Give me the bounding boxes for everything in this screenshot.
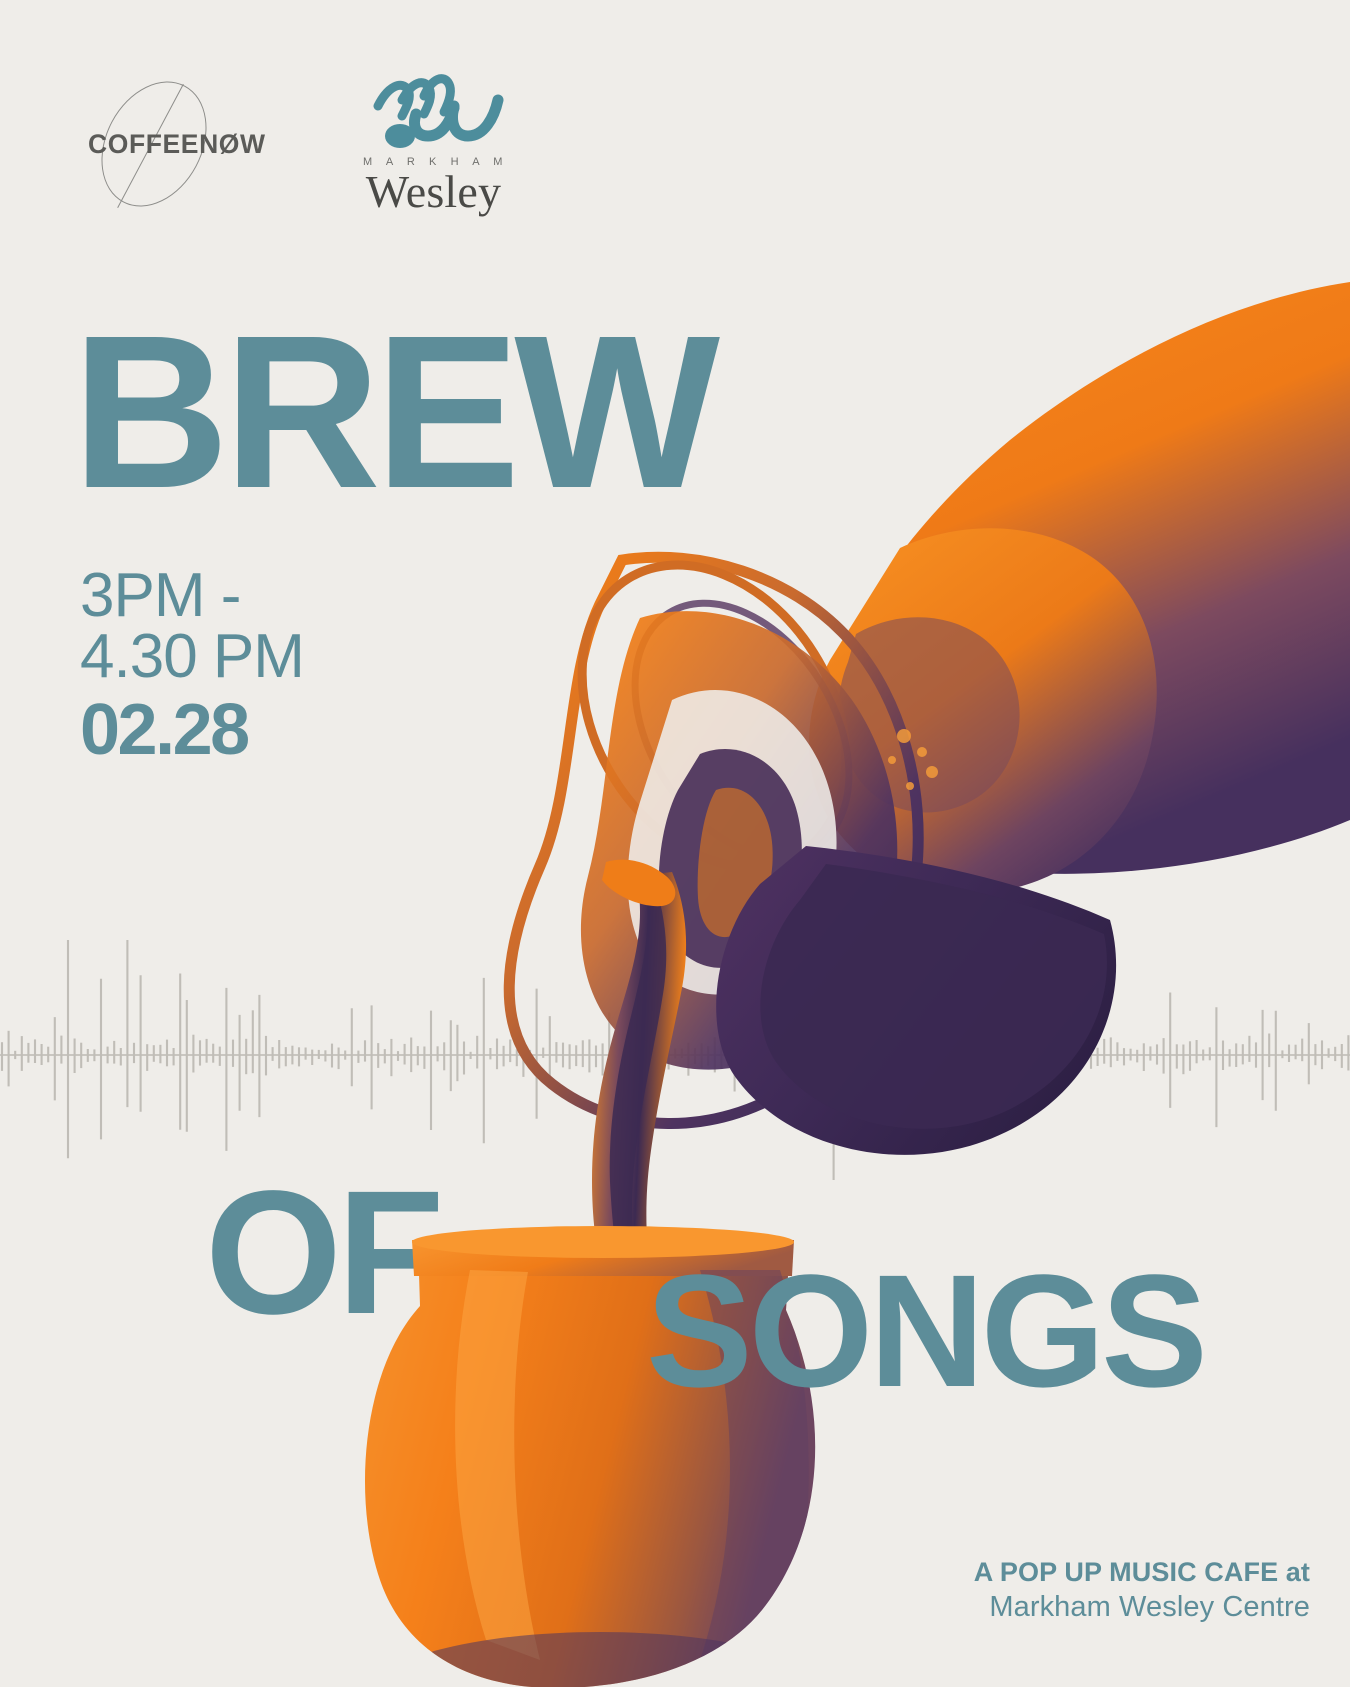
audio-waveform-graphic (0, 940, 1350, 1180)
footer-block: A POP UP MUSIC CAFE at Markham Wesley Ce… (974, 1556, 1310, 1625)
coffeenow-wordmark: COFFEENØW (88, 129, 266, 160)
schedule-block: 3PM - 4.30 PM 02.28 (80, 566, 304, 766)
headline-of: OF (205, 1178, 439, 1329)
event-time: 3PM - 4.30 PM (80, 566, 304, 688)
wesley-wordmark: Wesley (346, 169, 521, 214)
coffeenow-logo: COFFEENØW (88, 70, 278, 220)
headline-songs: SONGS (646, 1262, 1204, 1400)
mw-calligraphy-icon (358, 70, 510, 154)
logo-row: COFFEENØW M A R K H A M Wesley (88, 70, 521, 225)
event-date: 02.28 (80, 694, 304, 766)
footer-tagline: A POP UP MUSIC CAFE at (974, 1556, 1310, 1588)
poster-canvas: COFFEENØW M A R K H A M Wesley (0, 0, 1350, 1687)
headline-brew: BREW (72, 319, 714, 506)
poster-artwork (0, 0, 1350, 1687)
markham-wesley-logo: M A R K H A M Wesley (346, 70, 521, 225)
footer-venue: Markham Wesley Centre (974, 1590, 1310, 1625)
